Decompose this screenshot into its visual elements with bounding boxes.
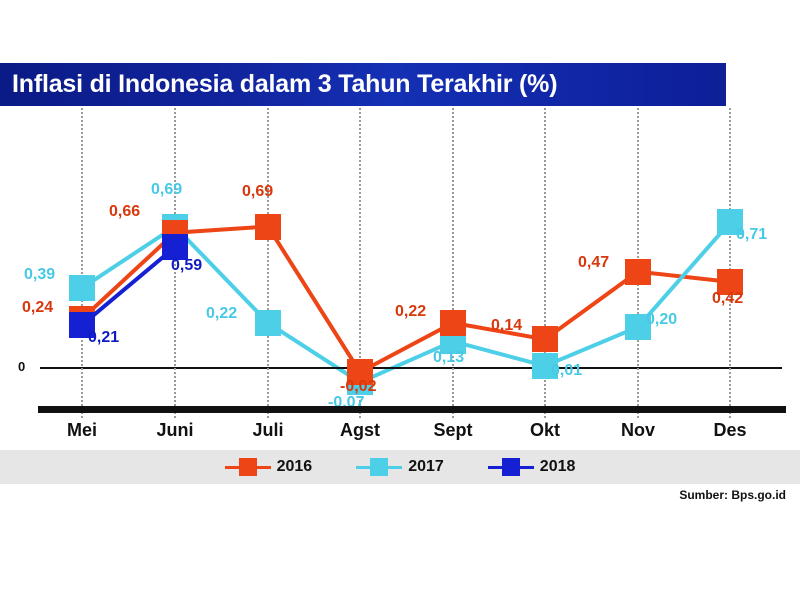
series-lines (0, 108, 800, 418)
legend-marker-2017-icon (356, 458, 402, 476)
value-label-2017-okt: 0,01 (551, 362, 582, 380)
data-point-2016-nov[interactable] (625, 259, 651, 285)
x-axis-label-des: Des (713, 420, 746, 441)
value-label-2018-juni: 0,59 (171, 257, 202, 275)
legend-square-2018 (502, 458, 520, 476)
source-credit: Sumber: Bps.go.id (679, 488, 786, 502)
title-banner: Inflasi di Indonesia dalam 3 Tahun Terak… (0, 63, 712, 106)
legend-square-2017 (370, 458, 388, 476)
legend-marker-2018-icon (488, 458, 534, 476)
value-label-2017-juni: 0,69 (151, 181, 182, 199)
value-label-2016-des: 0,42 (712, 290, 743, 308)
data-point-2016-okt[interactable] (532, 326, 558, 352)
value-label-2017-mei: 0,39 (24, 266, 55, 284)
x-axis-bar (38, 406, 786, 413)
value-label-2018-mei: 0,21 (88, 329, 119, 347)
legend-square-2016 (239, 458, 257, 476)
gridline-sept (452, 108, 454, 418)
x-axis-label-nov: Nov (621, 420, 655, 441)
x-axis-label-juni: Juni (156, 420, 193, 441)
legend-marker-2016-icon (225, 458, 271, 476)
value-label-2017-des: 0,71 (736, 226, 767, 244)
legend-item-2018[interactable]: 2018 (488, 458, 576, 476)
data-point-2016-juli[interactable] (255, 214, 281, 240)
gridline-mei (81, 108, 83, 418)
value-label-2016-sept: 0,22 (395, 303, 426, 321)
legend-item-2016[interactable]: 2016 (225, 458, 313, 476)
data-point-2016-sept[interactable] (440, 310, 466, 336)
value-label-2016-nov: 0,47 (578, 254, 609, 272)
x-axis-label-sept: Sept (433, 420, 472, 441)
chart-plot-area: 0 0,240,660,69-0,020,220,140,470,420,390… (0, 108, 800, 418)
title-banner-end-cap (712, 63, 726, 106)
legend-label-2018: 2018 (540, 458, 576, 476)
value-label-2017-juli: 0,22 (206, 305, 237, 323)
legend-item-2017[interactable]: 2017 (356, 458, 444, 476)
value-label-2016-okt: 0,14 (491, 317, 522, 335)
data-point-2017-mei[interactable] (69, 275, 95, 301)
x-axis-label-juli: Juli (252, 420, 283, 441)
gridline-des (729, 108, 731, 418)
zero-baseline (40, 367, 782, 369)
x-axis-labels: MeiJuniJuliAgstSeptOktNovDes (0, 420, 800, 448)
page-title: Inflasi di Indonesia dalam 3 Tahun Terak… (0, 70, 557, 99)
chart-legend: 201620172018 (0, 450, 800, 484)
legend-label-2016: 2016 (277, 458, 313, 476)
value-label-2017-nov: 0,20 (646, 311, 677, 329)
infographic-root: Inflasi di Indonesia dalam 3 Tahun Terak… (0, 0, 800, 600)
zero-axis-label: 0 (18, 359, 25, 374)
legend-label-2017: 2017 (408, 458, 444, 476)
x-axis-label-mei: Mei (67, 420, 97, 441)
x-axis-label-okt: Okt (530, 420, 560, 441)
data-point-2017-juli[interactable] (255, 310, 281, 336)
value-label-2016-juni: 0,66 (109, 203, 140, 221)
value-label-2016-juli: 0,69 (242, 183, 273, 201)
value-label-2017-sept: 0,13 (433, 349, 464, 367)
gridline-juli (267, 108, 269, 418)
x-axis-label-agst: Agst (340, 420, 380, 441)
value-label-2016-mei: 0,24 (22, 299, 53, 317)
